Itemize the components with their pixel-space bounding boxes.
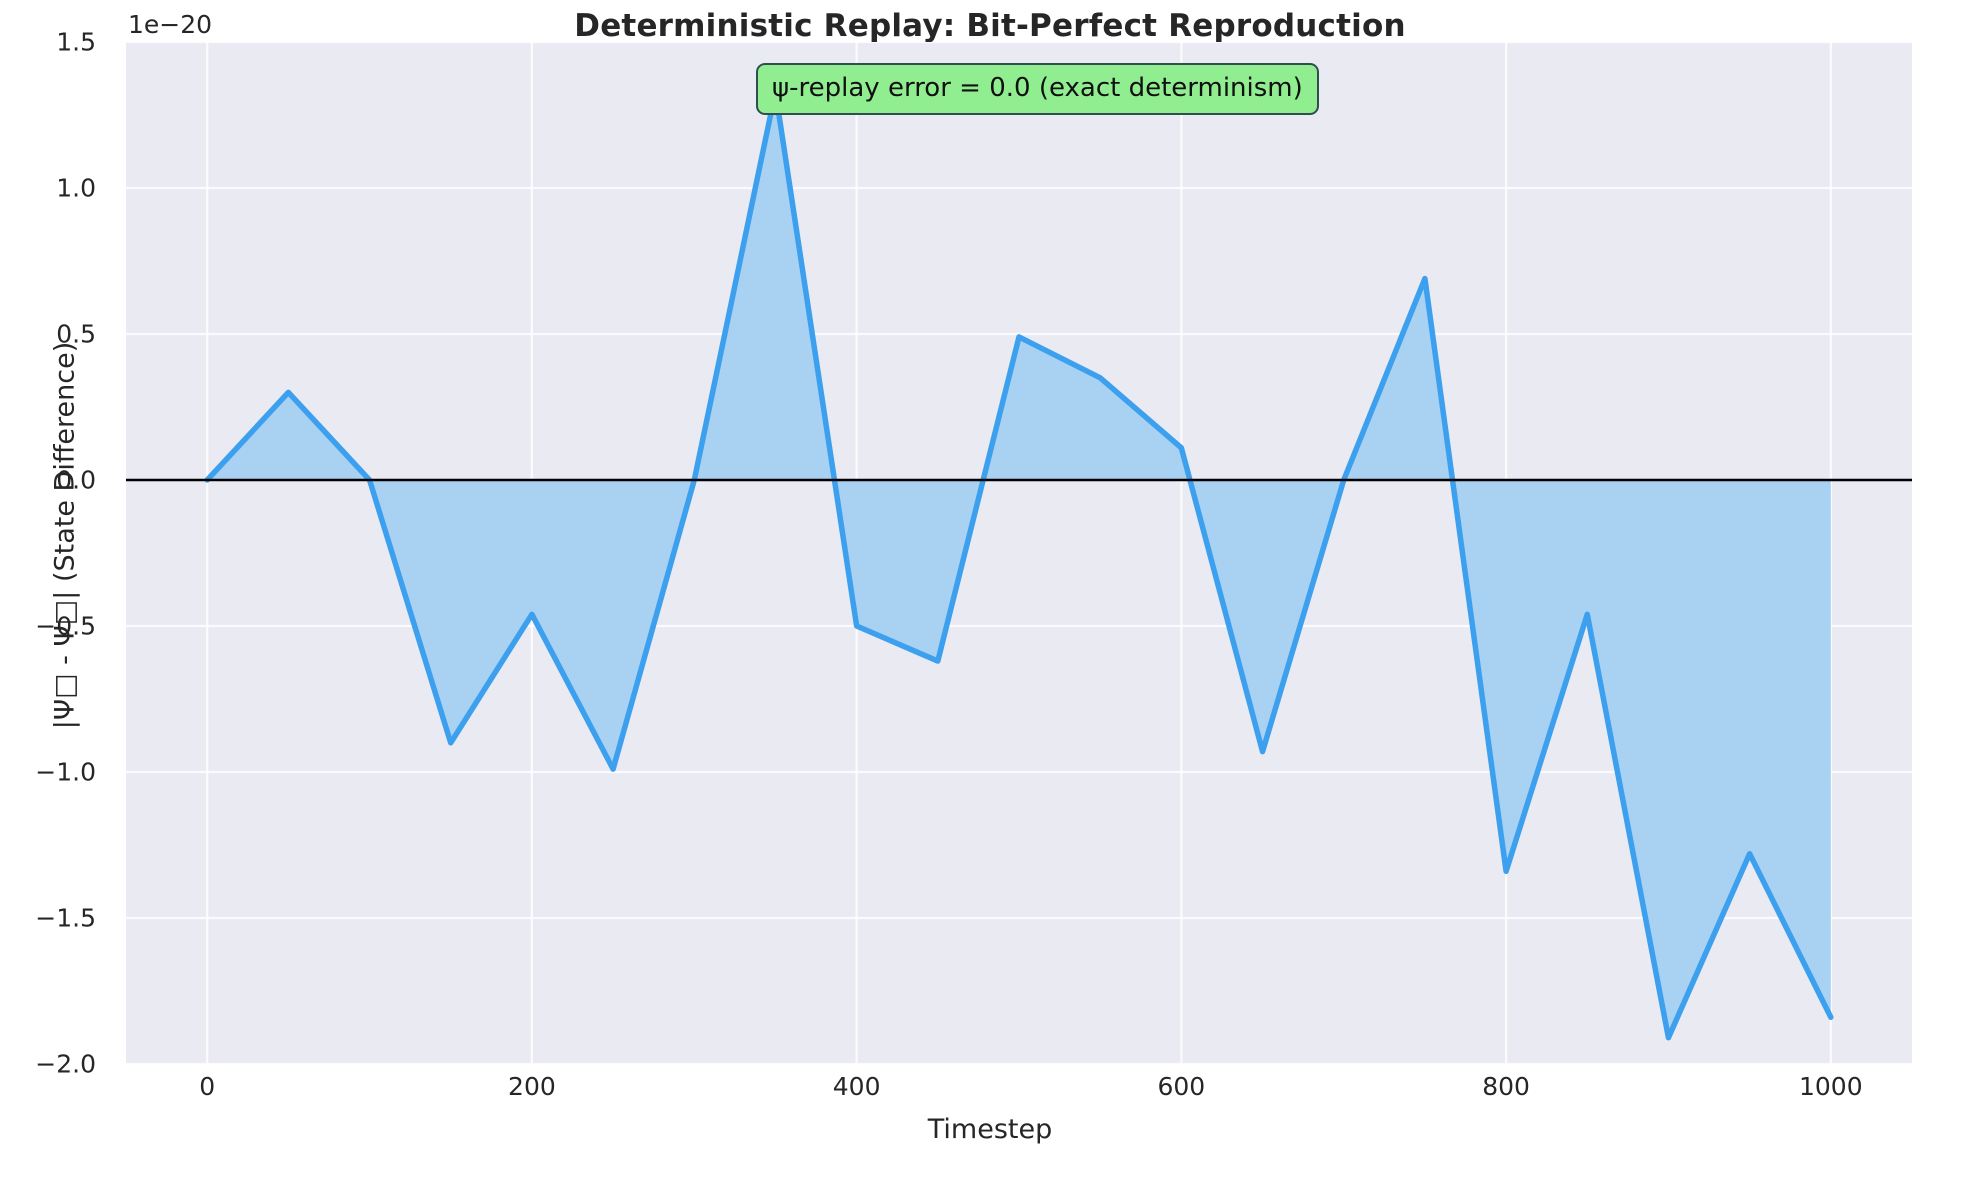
plot-area [126, 42, 1912, 1064]
chart-canvas [126, 42, 1912, 1064]
y-tick-label: −2.0 [0, 1050, 96, 1079]
x-tick-label: 800 [1406, 1072, 1606, 1101]
y-axis-label: |Ψ□ - Ψ□| (State Difference) [50, 86, 81, 986]
area-fill [207, 92, 1831, 1038]
y-axis-offset-label: 1e−20 [128, 10, 212, 39]
y-tick-label: 1.5 [0, 28, 96, 57]
y-tick-label: 0.5 [0, 320, 96, 349]
y-tick-label: 0.0 [0, 466, 96, 495]
x-axis-label: Timestep [0, 1114, 1980, 1145]
x-tick-label: 1000 [1731, 1072, 1931, 1101]
x-tick-label: 0 [107, 1072, 307, 1101]
y-tick-label: 1.0 [0, 174, 96, 203]
x-tick-label: 400 [757, 1072, 957, 1101]
x-tick-label: 600 [1081, 1072, 1281, 1101]
y-tick-label: −1.5 [0, 904, 96, 933]
x-tick-label: 200 [432, 1072, 632, 1101]
y-tick-label: −1.0 [0, 758, 96, 787]
data-series-group [207, 92, 1831, 1038]
chart-title: Deterministic Replay: Bit-Perfect Reprod… [0, 8, 1980, 44]
chart-figure: Deterministic Replay: Bit-Perfect Reprod… [0, 0, 1980, 1179]
y-tick-label: −0.5 [0, 612, 96, 641]
replay-error-annotation: ψ-replay error = 0.0 (exact determinism) [756, 63, 1319, 115]
